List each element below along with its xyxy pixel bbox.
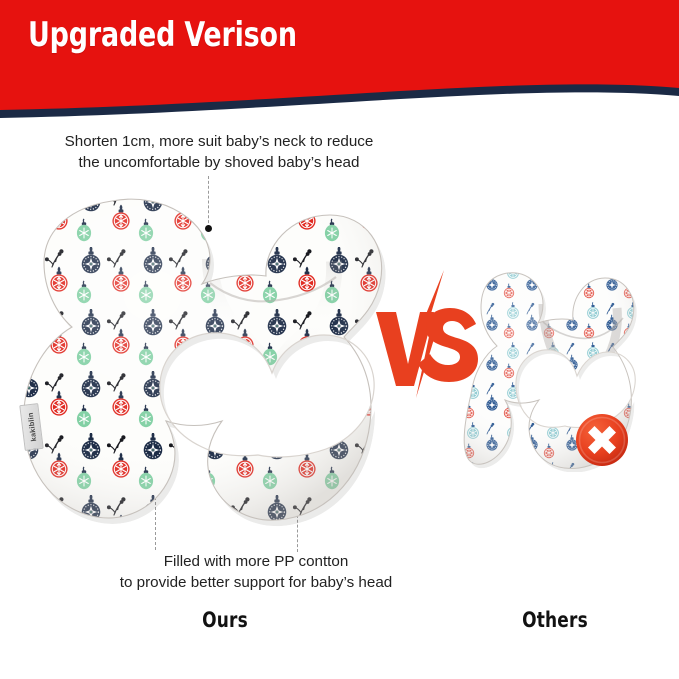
vs-letter-v [376,312,434,386]
page-title: Upgraded Verison [28,18,297,52]
pillow-body-ours [24,199,382,520]
header-band: Upgraded Verison [0,0,679,120]
rejected-badge [574,412,630,468]
product-comparison-infographic: Upgraded Verison Shorten 1cm, more suit … [0,0,679,679]
feature-caption-pp-cotton: Filled with more PP contton to provide b… [86,552,426,593]
product-image-ours [14,185,386,535]
column-label-others: Others [488,608,623,632]
column-label-ours: Ours [158,608,293,632]
feature-caption-neck-height: Shorten 1cm, more suit baby’s neck to re… [24,132,414,173]
brand-tag-label: kakiblin [25,412,37,442]
